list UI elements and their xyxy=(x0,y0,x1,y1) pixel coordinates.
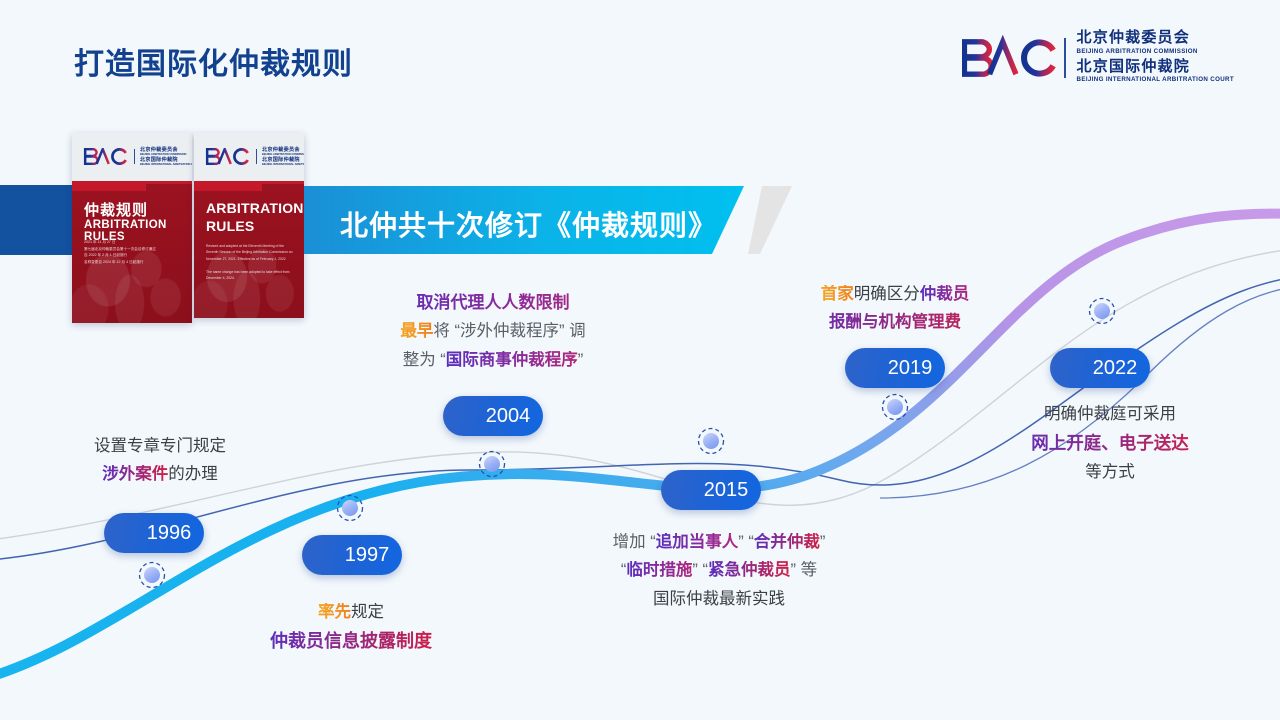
note-1996-line1: 设置专章专门规定 xyxy=(70,432,250,460)
milestone-dot-2015 xyxy=(699,429,724,454)
note-1996: 设置专章专门规定 涉外案件的办理 xyxy=(70,432,250,489)
note-2019: 首家明确区分仲裁员 报酬与机构管理费 xyxy=(785,280,1005,337)
note-2015-highlight-1: 追加当事人 xyxy=(656,533,739,551)
bac-logo-mark xyxy=(962,35,1058,81)
milestone-dot-1996 xyxy=(140,563,165,588)
book-cover-english: 北京仲裁委员会 BEIJING ARBITRATION COMMISSION 北… xyxy=(194,133,304,318)
page-title: 打造国际化仲裁规则 xyxy=(74,39,353,83)
note-2022-line3: 等方式 xyxy=(1008,458,1212,486)
book-cover-chinese-header: 北京仲裁委员会 BEIJING ARBITRATION COMMISSION 北… xyxy=(72,133,192,181)
note-2019-l1-b: 明确区分 xyxy=(854,285,920,303)
slide-canvas: 打造国际化仲裁规则 北京仲裁委员会 BEIJING ARBITRATION CO… xyxy=(0,0,1280,720)
note-2019-line2: 报酬与机构管理费 xyxy=(785,308,1005,336)
year-label: 1996 xyxy=(117,522,192,545)
book-cover-chinese-logo: 北京仲裁委员会 BEIJING ARBITRATION COMMISSION 北… xyxy=(83,147,192,167)
book-accent-notch xyxy=(194,184,262,191)
note-2015-highlight-4: 紧急仲裁员 xyxy=(708,561,791,579)
banner-title: 北仲共十次修订《仲裁规则》 xyxy=(340,204,717,244)
year-pill-2022[interactable]: 2022 xyxy=(1050,348,1150,388)
note-2004-line3-head: 整为 “ xyxy=(403,351,446,369)
year-label: 2022 xyxy=(1063,357,1138,380)
logo-line2-en: BEIJING INTERNATIONAL ARBITRATION COURT xyxy=(1077,75,1234,84)
note-2015-line3: 国际仲裁最新实践 xyxy=(560,585,878,613)
note-1996-line2-tail: 的办理 xyxy=(168,465,218,483)
note-2015-l1-a: 增加 “ xyxy=(613,533,656,551)
note-2004-highlight-gold: 最早 xyxy=(400,322,433,340)
note-2015: 增加 “追加当事人” “合并仲裁” “临时措施” “紧急仲裁员” 等 国际仲裁最… xyxy=(560,528,878,613)
year-label: 2015 xyxy=(674,479,749,502)
logo-divider xyxy=(1064,38,1066,78)
note-2004-line1: 取消代理人人数限制 xyxy=(373,288,613,317)
year-label: 2019 xyxy=(858,357,933,380)
book-cover-english-header: 北京仲裁委员会 BEIJING ARBITRATION COMMISSION 北… xyxy=(194,133,304,181)
book-meta-en-1: Revised and adopted at the Eleventh Meet… xyxy=(206,243,296,262)
year-label: 1997 xyxy=(315,544,390,567)
logo-line1-cn: 北京仲裁委员会 xyxy=(1077,30,1234,47)
note-2022: 明确仲裁庭可采用 网上开庭、电子送达 等方式 xyxy=(1008,400,1212,487)
note-1997: 率先规定 仲裁员信息披露制度 xyxy=(263,598,439,657)
bac-logo-mark xyxy=(83,148,129,165)
note-2004-line3-tail: ” xyxy=(578,351,584,369)
note-1997-line1-tail: 规定 xyxy=(351,603,384,621)
book-accent-notch xyxy=(72,184,146,191)
book-cover-english-logo: 北京仲裁委员会 BEIJING ARBITRATION COMMISSION 北… xyxy=(205,147,304,167)
note-2019-highlight-gold: 首家 xyxy=(821,285,854,303)
year-pill-2019[interactable]: 2019 xyxy=(845,348,945,388)
book-cover-english-body: ARBITRATION RULES Revised and adopted at… xyxy=(194,181,304,318)
note-2015-l1-c: ” “ xyxy=(738,533,754,551)
note-2015-l1-e: ” xyxy=(820,533,826,551)
bac-logo-mark xyxy=(205,148,251,165)
note-2022-line2: 网上开庭、电子送达 xyxy=(1008,428,1212,458)
note-1996-highlight: 涉外案件 xyxy=(102,465,168,483)
note-1997-highlight-gold: 率先 xyxy=(318,603,351,621)
section-banner: 北仲共十次修订《仲裁规则》 xyxy=(304,186,804,254)
book-title-cn: 仲裁规则 xyxy=(84,199,148,220)
note-2015-highlight-2: 合并仲裁 xyxy=(754,533,820,551)
banner-sliver-shape xyxy=(748,186,798,254)
note-2015-l2-c: ” “ xyxy=(692,561,708,579)
milestone-dot-2019 xyxy=(883,395,908,420)
book-title-en: ARBITRATION RULES xyxy=(206,199,304,235)
note-2019-highlight-purple: 仲裁员 xyxy=(920,285,970,303)
note-1997-line2: 仲裁员信息披露制度 xyxy=(263,626,439,657)
year-label: 2004 xyxy=(456,405,531,428)
book-meta-en-2: The name change has been adopted to take… xyxy=(206,269,296,282)
note-2004: 取消代理人人数限制 最早将 “涉外仲裁程序” 调 整为 “国际商事仲裁程序” xyxy=(373,288,613,374)
logo-line2-cn: 北京国际仲裁院 xyxy=(1077,59,1234,76)
note-2015-l2-e: ” 等 xyxy=(790,561,817,579)
year-pill-1997[interactable]: 1997 xyxy=(302,535,402,575)
note-2015-highlight-3: 临时措施 xyxy=(626,561,692,579)
note-2004-line2-tail: 将 “涉外仲裁程序” 调 xyxy=(433,322,585,340)
year-pill-2004[interactable]: 2004 xyxy=(443,396,543,436)
book-cover-chinese-body: 仲裁规则 ARBITRATION RULES 2021 年 11 月 27 日 … xyxy=(72,181,192,323)
book-logo-line2-en: BEIJING INTERNATIONAL ARBITRATION COURT xyxy=(262,163,304,167)
curve-grey xyxy=(0,248,1280,540)
book-meta-cn: 2021 年 11 月 27 日 第七届北京仲裁委员会第十一次会议修订通过 自 … xyxy=(84,239,184,266)
logo-line1-en: BEIJING ARBITRATION COMMISSION xyxy=(1077,47,1234,56)
note-2022-line1: 明确仲裁庭可采用 xyxy=(1008,400,1212,428)
book-logo-divider xyxy=(134,149,135,164)
year-pill-2015[interactable]: 2015 xyxy=(661,470,761,510)
year-pill-1996[interactable]: 1996 xyxy=(104,513,204,553)
bac-logo: 北京仲裁委员会 BEIJING ARBITRATION COMMISSION 北… xyxy=(962,30,1234,85)
book-cover-chinese: 北京仲裁委员会 BEIJING ARBITRATION COMMISSION 北… xyxy=(72,133,192,323)
left-blue-block xyxy=(0,185,73,255)
book-logo-divider xyxy=(256,149,257,164)
note-2004-highlight-purple: 国际商事仲裁程序 xyxy=(446,351,578,369)
book-logo-line2-en: BEIJING INTERNATIONAL ARBITRATION COURT xyxy=(140,163,192,167)
